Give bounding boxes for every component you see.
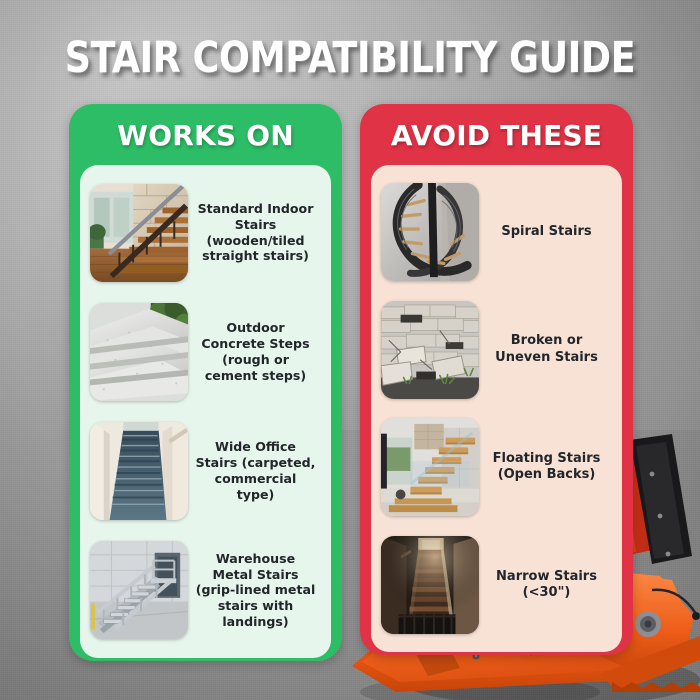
outdoor-concrete-steps-photo — [90, 303, 188, 401]
carpeted-office-stairs-photo — [90, 422, 188, 520]
avoid-these-panel: Spiral Stairs — [371, 165, 622, 652]
list-item-label: Broken or Uneven Stairs — [479, 333, 612, 366]
list-item[interactable]: Floating Stairs (Open Backs) — [377, 409, 616, 527]
list-item-label: Warehouse Metal Stairs (grip-lined metal… — [188, 551, 321, 630]
narrow-dark-staircase-photo — [381, 536, 479, 634]
list-item-label: Narrow Stairs (<30") — [479, 569, 612, 602]
page-title: STAIR COMPATIBILITY GUIDE — [21, 36, 679, 81]
warehouse-metal-stairs-photo — [90, 541, 188, 639]
list-item[interactable]: Warehouse Metal Stairs (grip-lined metal… — [86, 531, 325, 650]
list-item-label: Standard Indoor Stairs (wooden/tiled str… — [188, 201, 321, 264]
works-on-panel: Standard Indoor Stairs (wooden/tiled str… — [80, 165, 331, 658]
spiral-staircase-photo — [381, 183, 479, 281]
works-on-header: WORKS ON — [69, 104, 342, 165]
list-item[interactable]: Standard Indoor Stairs (wooden/tiled str… — [86, 173, 325, 292]
list-item[interactable]: Narrow Stairs (<30") — [377, 526, 616, 644]
list-item-label: Wide Office Stairs (carpeted, commercial… — [188, 439, 321, 502]
list-item[interactable]: Wide Office Stairs (carpeted, commercial… — [86, 412, 325, 531]
list-item-label: Floating Stairs (Open Backs) — [479, 451, 612, 484]
broken-uneven-steps-photo — [381, 301, 479, 399]
list-item[interactable]: Outdoor Concrete Steps (rough or cement … — [86, 292, 325, 411]
list-item-label: Outdoor Concrete Steps (rough or cement … — [188, 320, 321, 383]
floating-open-back-stairs-photo — [381, 418, 479, 516]
list-item[interactable]: Spiral Stairs — [377, 173, 616, 291]
list-item-label: Spiral Stairs — [479, 224, 612, 240]
avoid-these-header: AVOID THESE — [360, 104, 633, 165]
works-on-column: WORKS ON — [69, 104, 342, 661]
indoor-wooden-staircase-photo — [90, 184, 188, 282]
list-item[interactable]: Broken or Uneven Stairs — [377, 291, 616, 409]
avoid-these-column: AVOID THESE — [360, 104, 633, 655]
